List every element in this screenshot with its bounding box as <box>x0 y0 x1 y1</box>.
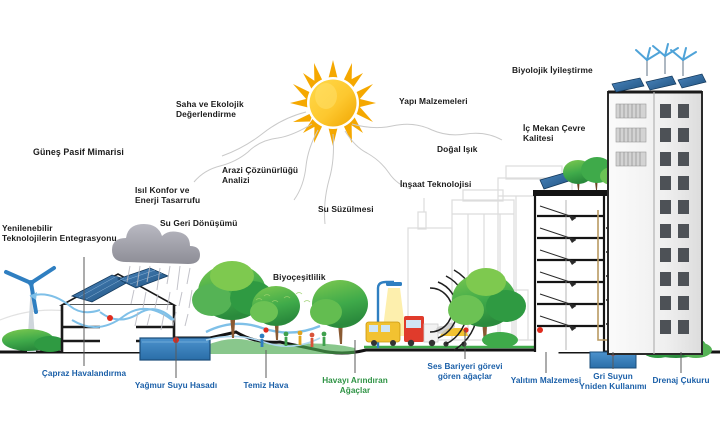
city-bus-icon <box>366 322 400 346</box>
tower-wind-turbines <box>636 44 696 76</box>
tree-park-2 <box>310 280 368 344</box>
label-yapi-malzemeleri: Yapı Malzemeleri <box>399 97 468 107</box>
label-drenaj-cukuru: Drenaj Çukuru <box>652 376 709 386</box>
label-biyocesitlilik: Biyoçeşitlilik <box>273 273 326 283</box>
label-ses-bariyeri-goren-agaclar: Ses Bariyeri görevi gören ağaçlar <box>427 362 502 381</box>
park-scene <box>250 280 368 347</box>
label-gunes-pasif-mimarisi: Güneş Pasif Mimarisi <box>33 147 124 157</box>
label-arazi-cozunurlugu-analizi: Arazi Çözünürlüğü Analizi <box>222 166 298 186</box>
high-rise-tower <box>608 44 706 354</box>
label-yenilenebilir-teknolojilerin-entegrasyonu: Yenilenebilir Teknolojilerin Entegrasyon… <box>2 224 117 244</box>
label-dogal-isik: Doğal Işık <box>437 145 478 155</box>
infographic-canvas: Güneş Pasif Mimarisi Saha ve Ekolojik De… <box>0 0 720 427</box>
label-yagmur-suyu-hasadi: Yağmur Suyu Hasadı <box>135 381 217 391</box>
label-su-geri-donusumu: Su Geri Dönüşümü <box>160 219 237 229</box>
label-gri-suyun-yniden-kullanimi: Gri Suyun Yniden Kullanımı <box>579 372 646 391</box>
vehicles-group <box>366 316 468 347</box>
person-3 <box>298 331 303 345</box>
label-temiz-hava: Temiz Hava <box>244 381 289 391</box>
label-yalitim-malzemesi: Yalıtım Malzemesi <box>511 376 581 386</box>
label-saha-ve-ekolojik-degerlendirme: Saha ve Ekolojik Değerlendirme <box>176 100 244 120</box>
rainwater-basin <box>140 337 210 360</box>
label-capraz-havalandirma: Çapraz Havalandırma <box>42 369 126 379</box>
label-su-suzulmesi: Su Süzülmesi <box>318 205 374 215</box>
tower-louvre-windows <box>616 104 646 166</box>
label-isil-konfor-ve-enerji-tasarrufu: Isıl Konfor ve Enerji Tasarrufu <box>135 186 200 206</box>
label-biyolojik-iyilestirme: Biyolojik İyileştirme <box>512 66 593 76</box>
label-insaat-teknolojisi: İnşaat Teknolojisi <box>400 180 471 190</box>
sun-icon <box>290 60 376 146</box>
label-ic-mekan-cevre-kalitesi: İç Mekan Çevre Kalitesi <box>523 124 585 144</box>
label-havayi-arindiran-agaclar: Havayı Arındıran Ağaçlar <box>322 376 388 395</box>
tower-solar-panels <box>612 74 706 92</box>
